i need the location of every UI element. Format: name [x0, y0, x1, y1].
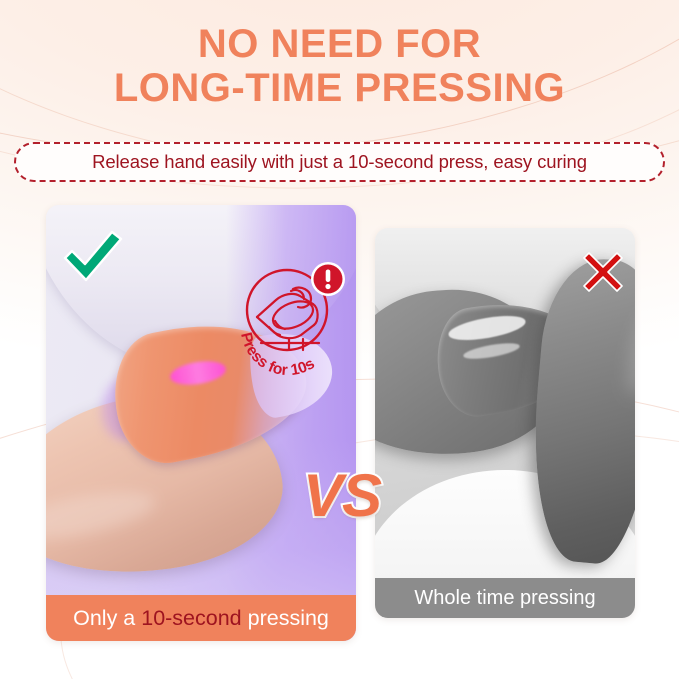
exclamation-icon: [311, 262, 345, 296]
caption-bar-good: Only a 10-second pressing: [46, 595, 356, 641]
promo-banner: NO NEED FOR LONG-TIME PRESSING Release h…: [0, 0, 679, 679]
headline-line-1: NO NEED FOR: [0, 22, 679, 66]
caption-bad-text: Whole time pressing: [414, 587, 595, 610]
subtitle-text: Release hand easily with just a 10-secon…: [92, 151, 587, 173]
finger-highlight: [46, 483, 158, 548]
caption-good-suffix: pressing: [242, 606, 329, 630]
caption-good-highlight: 10-second: [141, 606, 241, 630]
headline-line-2: LONG-TIME PRESSING: [0, 66, 679, 110]
red-cross-icon: [581, 250, 625, 294]
page-title: NO NEED FOR LONG-TIME PRESSING: [0, 22, 679, 110]
subtitle-pill: Release hand easily with just a 10-secon…: [14, 142, 665, 182]
caption-bar-bad: Whole time pressing: [375, 578, 635, 618]
vs-label: VS: [303, 466, 381, 526]
press-for-10s-stamp: Press for 10s: [231, 255, 349, 375]
stamp-text: Press for 10s: [237, 331, 318, 375]
caption-good-text: Only a 10-second pressing: [73, 606, 329, 631]
finger-press-line-art: [257, 288, 319, 350]
finger-highlight-gray: [620, 304, 635, 399]
green-check-icon: [62, 228, 124, 284]
caption-good-prefix: Only a: [73, 606, 141, 630]
